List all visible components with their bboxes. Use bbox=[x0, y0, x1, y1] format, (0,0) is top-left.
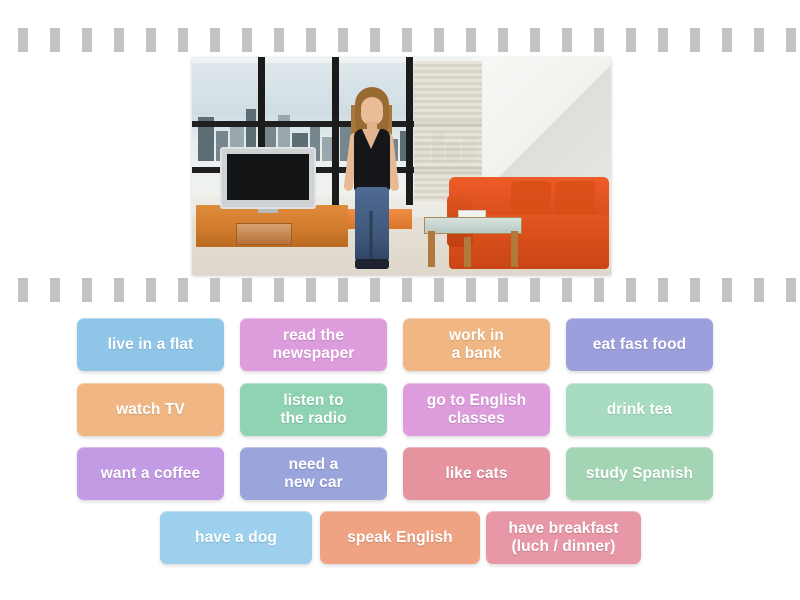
word-tile[interactable]: live in a flat bbox=[77, 318, 224, 371]
divider-dash bbox=[114, 278, 124, 302]
divider-dash bbox=[562, 28, 572, 52]
divider-dash bbox=[338, 28, 348, 52]
divider-dash bbox=[754, 28, 764, 52]
divider-dash bbox=[306, 278, 316, 302]
divider-dash bbox=[82, 28, 92, 52]
divider-dash bbox=[50, 278, 60, 302]
word-tile-label: watch TV bbox=[116, 401, 185, 418]
word-tile[interactable]: study Spanish bbox=[566, 447, 713, 500]
word-tile[interactable]: drink tea bbox=[566, 383, 713, 436]
word-tile[interactable]: listen tothe radio bbox=[240, 383, 387, 436]
divider-dash bbox=[722, 28, 732, 52]
word-tile-label: live in a flat bbox=[108, 336, 194, 353]
photo-coffee-table bbox=[424, 217, 522, 267]
matching-activity-page: live in a flatread thenewspaperwork ina … bbox=[0, 0, 800, 600]
divider-dash bbox=[210, 28, 220, 52]
divider-dash bbox=[306, 28, 316, 52]
word-tile-label: want a coffee bbox=[101, 465, 201, 482]
divider-dash bbox=[466, 278, 476, 302]
photo-person-shoes bbox=[355, 259, 389, 269]
divider-dash bbox=[370, 28, 380, 52]
word-tile-label: have breakfast(luch / dinner) bbox=[509, 520, 619, 555]
word-tile[interactable]: work ina bank bbox=[403, 318, 550, 371]
word-tile[interactable]: want a coffee bbox=[77, 447, 224, 500]
word-tile-label: study Spanish bbox=[586, 465, 693, 482]
divider-dash bbox=[594, 28, 604, 52]
photo-person bbox=[333, 77, 409, 273]
divider-dash bbox=[274, 28, 284, 52]
living-room-photo bbox=[192, 57, 611, 275]
divider-dash bbox=[466, 28, 476, 52]
divider-dash bbox=[690, 28, 700, 52]
divider-dash bbox=[722, 278, 732, 302]
word-tile-label: drink tea bbox=[607, 401, 673, 418]
divider-dash bbox=[562, 278, 572, 302]
word-tile[interactable]: eat fast food bbox=[566, 318, 713, 371]
divider-dash bbox=[786, 28, 796, 52]
photo-table-top bbox=[424, 217, 522, 234]
word-tile-label: need anew car bbox=[284, 456, 342, 491]
word-tile-label: read thenewspaper bbox=[273, 327, 355, 362]
divider-dash bbox=[338, 278, 348, 302]
divider-dash bbox=[210, 278, 220, 302]
divider-dash bbox=[594, 278, 604, 302]
divider-dash bbox=[18, 278, 28, 302]
photo-person-face bbox=[361, 97, 383, 125]
divider-dash bbox=[498, 28, 508, 52]
divider-dash bbox=[658, 278, 668, 302]
divider-dash bbox=[690, 278, 700, 302]
word-tile[interactable]: watch TV bbox=[77, 383, 224, 436]
divider-dash bbox=[370, 278, 380, 302]
photo-canvas bbox=[192, 57, 611, 275]
word-tile[interactable]: have breakfast(luch / dinner) bbox=[486, 511, 641, 564]
divider-dash bbox=[402, 28, 412, 52]
divider-dash bbox=[658, 28, 668, 52]
photo-sofa-cushion bbox=[511, 181, 551, 219]
word-tile[interactable]: like cats bbox=[403, 447, 550, 500]
dashed-divider-middle bbox=[0, 277, 800, 303]
divider-dash bbox=[434, 278, 444, 302]
word-tile-label: go to Englishclasses bbox=[427, 392, 526, 427]
divider-dash bbox=[754, 278, 764, 302]
divider-dash bbox=[626, 28, 636, 52]
divider-dash bbox=[82, 278, 92, 302]
photo-cabinet-drawer bbox=[236, 223, 292, 245]
divider-dash bbox=[402, 278, 412, 302]
divider-dash bbox=[626, 278, 636, 302]
word-tile[interactable]: read thenewspaper bbox=[240, 318, 387, 371]
dashed-divider-top bbox=[0, 27, 800, 53]
word-tile[interactable]: have a dog bbox=[160, 511, 312, 564]
word-tile-label: have a dog bbox=[195, 529, 277, 546]
word-tile[interactable]: need anew car bbox=[240, 447, 387, 500]
word-tile[interactable]: speak English bbox=[320, 511, 480, 564]
divider-dash bbox=[274, 278, 284, 302]
divider-dash bbox=[242, 28, 252, 52]
divider-dash bbox=[146, 278, 156, 302]
divider-dash bbox=[146, 28, 156, 52]
divider-dash bbox=[114, 28, 124, 52]
divider-dash bbox=[530, 28, 540, 52]
divider-dash bbox=[530, 278, 540, 302]
divider-dash bbox=[498, 278, 508, 302]
word-tile-label: work ina bank bbox=[449, 327, 504, 362]
word-tile-label: listen tothe radio bbox=[280, 392, 346, 427]
word-tile[interactable]: go to Englishclasses bbox=[403, 383, 550, 436]
photo-sofa-cushion bbox=[555, 181, 595, 219]
word-tile-label: like cats bbox=[445, 465, 507, 482]
word-tile-label: eat fast food bbox=[593, 336, 686, 353]
divider-dash bbox=[242, 278, 252, 302]
divider-dash bbox=[18, 28, 28, 52]
photo-television bbox=[220, 147, 316, 209]
divider-dash bbox=[178, 278, 188, 302]
divider-dash bbox=[786, 278, 796, 302]
divider-dash bbox=[50, 28, 60, 52]
photo-tv-screen bbox=[227, 154, 309, 200]
divider-dash bbox=[178, 28, 188, 52]
word-tile-label: speak English bbox=[347, 529, 453, 546]
divider-dash bbox=[434, 28, 444, 52]
